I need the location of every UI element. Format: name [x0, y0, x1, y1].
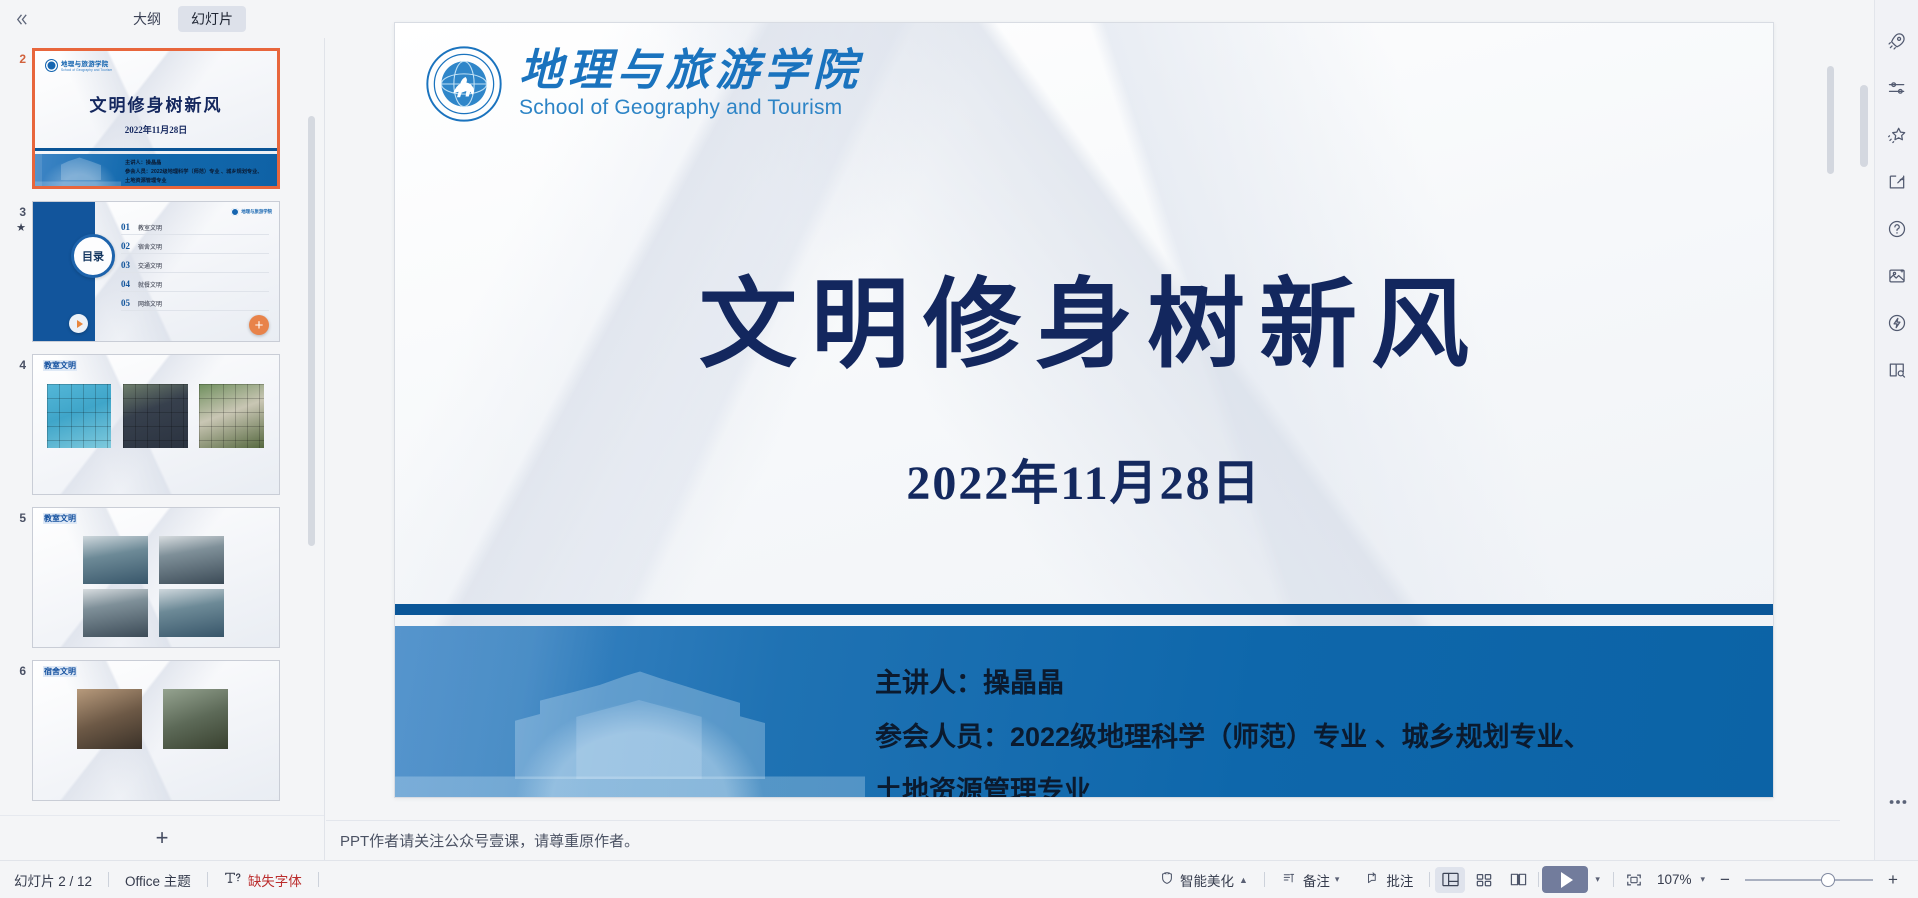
- slide-accent-bar: [395, 604, 1773, 615]
- slide-footer-panel[interactable]: 主讲人：操晶晶 参会人员：2022级地理科学（师范）专业 、城乡规划专业、 土地…: [395, 626, 1773, 797]
- divider: [1429, 872, 1430, 887]
- thumbnail-frame-2[interactable]: 地理与旅游学院 School of Geography and Tourism …: [32, 48, 280, 189]
- mini-slide-3: 地理与旅游学院 目录 01 教室文明 02 宿舍文: [33, 202, 279, 341]
- mini-toc-item: 05 网络文明: [121, 298, 269, 311]
- mini-toc-list: 01 教室文明 02 宿舍文明 03 交通文明: [121, 222, 269, 317]
- mini-slide-heading: 教室文明: [43, 360, 77, 371]
- school-logo-block[interactable]: 地理与旅游学院 School of Geography and Tourism: [425, 45, 862, 123]
- thumbnail-number: 5: [19, 511, 26, 525]
- mini-footer-text: 主讲人：操晶晶 参会人员：2022级地理科学（师范）专业 、城乡规划专业、 土地…: [125, 159, 273, 186]
- mini-toc-index: 02: [121, 241, 130, 251]
- status-right-group: 智能美化 ▲ 备注 ▾: [1159, 866, 1918, 894]
- thumbnail-item-4[interactable]: 4 教室文明: [0, 348, 324, 501]
- mini-footer-line-3: 土地资源管理专业: [125, 177, 273, 186]
- normal-view-icon[interactable]: [1435, 867, 1465, 893]
- divider: [1538, 872, 1539, 887]
- collapse-panel-icon[interactable]: [4, 2, 38, 36]
- tab-slides[interactable]: 幻灯片: [178, 6, 246, 33]
- mini-toc-item: 01 教室文明: [121, 222, 269, 235]
- missing-font-icon: [224, 871, 243, 888]
- mini-building-image: [35, 154, 121, 186]
- thumbnail-number-col-6: 6: [0, 660, 32, 678]
- thumbnail-number: 4: [19, 358, 26, 372]
- reading-view-icon[interactable]: [1503, 867, 1533, 893]
- mini-accent-bar: [35, 148, 277, 151]
- mini-photo: [47, 384, 111, 448]
- thumbnail-item-5[interactable]: 5 教室文明: [0, 501, 324, 654]
- mini-date: 2022年11月28日: [35, 123, 277, 136]
- comment-icon: [1365, 871, 1381, 889]
- thumbnail-number-col-5: 5: [0, 507, 32, 525]
- school-crest-icon: [231, 208, 239, 216]
- play-icon: [1561, 872, 1573, 888]
- school-crest-icon: [425, 45, 503, 123]
- mini-slide-heading: 教室文明: [43, 513, 77, 524]
- mini-slide-5: 教室文明: [33, 508, 279, 647]
- mini-logo-en: School of Geography and Tourism: [61, 68, 112, 72]
- footer-line-attendees: 参会人员：2022级地理科学（师范）专业 、城乡规划专业、: [875, 710, 1733, 764]
- slideshow-options-chevron-icon[interactable]: ▾: [1595, 874, 1600, 885]
- fit-to-window-icon[interactable]: [1619, 867, 1649, 893]
- smart-beautify-label: 智能美化: [1180, 870, 1234, 890]
- divider: [1613, 872, 1614, 887]
- divider: [1264, 872, 1265, 887]
- mini-logo-cn: 地理与旅游学院: [241, 209, 272, 215]
- mini-footer-line-2: 参会人员：2022级地理科学（师范）专业 、城乡规划专业、: [125, 168, 273, 177]
- missing-font-status[interactable]: 缺失字体: [211, 866, 315, 894]
- more-dots-icon[interactable]: [1887, 794, 1909, 812]
- theme-name[interactable]: Office 主题: [112, 866, 204, 894]
- start-slideshow-button[interactable]: [1542, 866, 1588, 893]
- thumbnail-number-col-4: 4: [0, 354, 32, 372]
- mini-photo: [83, 589, 148, 637]
- notes-label: 备注: [1303, 870, 1330, 890]
- mini-footer-panel: 主讲人：操晶晶 参会人员：2022级地理科学（师范）专业 、城乡规划专业、 土地…: [35, 154, 277, 186]
- smart-beautify-button[interactable]: 智能美化 ▲: [1159, 866, 1261, 894]
- mini-toc-label: 交通文明: [138, 261, 162, 270]
- right-panel-scrollbar[interactable]: [1860, 85, 1868, 167]
- mini-photo: [159, 589, 224, 637]
- add-slide-bar: +: [0, 815, 324, 860]
- zoom-controls: 107% ▾ − +: [1657, 869, 1904, 891]
- notes-text[interactable]: PPT作者请关注公众号壹课，请尊重原作者。: [326, 830, 639, 851]
- mini-toc-index: 05: [121, 298, 130, 308]
- thumbnail-number-col-3: 3 ★: [0, 201, 32, 235]
- thumbnail-item-3[interactable]: 3 ★ 地理与旅游学院 目录: [0, 195, 324, 348]
- mini-logo-cn: 地理与旅游学院: [61, 58, 112, 68]
- mini-toc-index: 03: [121, 260, 130, 270]
- insert-slide-here-button[interactable]: +: [249, 315, 269, 335]
- thumbnail-frame-3[interactable]: 地理与旅游学院 目录 01 教室文明 02 宿舍文: [32, 201, 280, 342]
- help-circle-icon[interactable]: [1882, 214, 1912, 244]
- chevron-down-icon: ▾: [1335, 874, 1340, 885]
- mini-photo: [159, 536, 224, 584]
- thumbnail-frame-5[interactable]: 教室文明: [32, 507, 280, 648]
- school-crest-icon: [45, 59, 58, 72]
- right-tool-rail: [1874, 0, 1918, 860]
- divider: [318, 872, 319, 887]
- school-name-en: School of Geography and Tourism: [519, 96, 862, 120]
- slide-title[interactable]: 文明修身树新风: [395, 273, 1773, 381]
- mini-slide-2: 地理与旅游学院 School of Geography and Tourism …: [35, 51, 277, 186]
- mini-toc-item: 04 就餐文明: [121, 279, 269, 292]
- export-slide-icon[interactable]: [1882, 167, 1912, 197]
- mini-toc-label: 网络文明: [138, 299, 162, 308]
- mini-slide-6: 宿舍文明: [33, 661, 279, 800]
- school-logo-text: 地理与旅游学院 School of Geography and Tourism: [519, 48, 862, 120]
- mini-photo: [83, 536, 148, 584]
- sparkle-star-icon[interactable]: [1882, 120, 1912, 150]
- zoom-level-label[interactable]: 107%: [1657, 872, 1692, 887]
- mini-footer-line-1: 主讲人：操晶晶: [125, 159, 273, 168]
- thumbnail-item-6[interactable]: 6 宿舍文明: [0, 654, 324, 807]
- comments-button[interactable]: 批注: [1352, 866, 1426, 894]
- status-left-group: 幻灯片 2 / 12 Office 主题 缺失字体: [0, 866, 322, 894]
- mini-toc-label: 就餐文明: [138, 280, 162, 289]
- tab-outline[interactable]: 大纲: [120, 6, 174, 33]
- slide-footer-text[interactable]: 主讲人：操晶晶 参会人员：2022级地理科学（师范）专业 、城乡规划专业、 土地…: [875, 656, 1733, 797]
- comments-label: 批注: [1386, 870, 1413, 890]
- divider: [207, 872, 208, 887]
- thumbnail-frame-4[interactable]: 教室文明: [32, 354, 280, 495]
- zoom-slider-track: [1745, 879, 1873, 881]
- thumbnail-number: 2: [19, 52, 26, 66]
- zoom-slider[interactable]: [1745, 871, 1873, 889]
- mini-polygon-bg: [33, 661, 279, 800]
- mini-logo: 地理与旅游学院: [231, 208, 272, 216]
- sliders-icon[interactable]: [1882, 73, 1912, 103]
- beautify-shield-icon: [1159, 870, 1175, 889]
- divider: [108, 872, 109, 887]
- missing-font-label: 缺失字体: [248, 870, 302, 890]
- footer-line-attendees-cont: 土地资源管理专业: [875, 764, 1733, 797]
- footer-line-speaker: 主讲人：操晶晶: [875, 656, 1733, 710]
- zoom-out-button[interactable]: −: [1714, 869, 1736, 891]
- slide-date[interactable]: 2022年11月28日: [395, 443, 1773, 513]
- mini-photo: [163, 689, 228, 749]
- mini-toc-badge: 目录: [71, 234, 115, 278]
- slide-edit-area: 地理与旅游学院 School of Geography and Tourism …: [326, 0, 1840, 860]
- thumbnail-number: 6: [19, 664, 26, 678]
- powerpoint-editor-window: 大纲 幻灯片 2 地理与旅游学院 School: [0, 0, 1918, 898]
- panel-tabs: 大纲 幻灯片: [120, 6, 246, 33]
- mini-photo: [199, 384, 264, 448]
- mini-toc-label: 教室文明: [138, 223, 162, 232]
- canvas-vertical-scrollbar[interactable]: [1827, 66, 1834, 174]
- image-effects-icon[interactable]: [1882, 261, 1912, 291]
- thumbnail-number: 3: [19, 205, 26, 219]
- mini-slide-4: 教室文明: [33, 355, 279, 494]
- mini-toc-index: 01: [121, 222, 130, 232]
- book-search-icon[interactable]: [1882, 355, 1912, 385]
- mini-toc-label: 宿舍文明: [138, 242, 162, 251]
- school-name-cn: 地理与旅游学院: [519, 48, 862, 94]
- zoom-slider-handle[interactable]: [1821, 873, 1835, 887]
- mini-photo: [123, 384, 188, 448]
- slide-canvas[interactable]: 地理与旅游学院 School of Geography and Tourism …: [394, 22, 1774, 798]
- slide-counter[interactable]: 幻灯片 2 / 12: [14, 866, 105, 894]
- notes-pane[interactable]: PPT作者请关注公众号壹课，请尊重原作者。: [326, 820, 1840, 860]
- thumbnail-number-col-2: 2: [0, 48, 32, 66]
- animation-star-icon: ★: [16, 221, 26, 235]
- flash-bulb-icon[interactable]: [1882, 308, 1912, 338]
- thumbnail-item-2[interactable]: 2 地理与旅游学院 School of Geography and Touris…: [0, 42, 324, 195]
- thumbnail-panel-scrollbar[interactable]: [308, 116, 315, 546]
- slide-sorter-icon[interactable]: [1469, 867, 1499, 893]
- mini-logo: 地理与旅游学院 School of Geography and Tourism: [45, 58, 112, 72]
- zoom-chevron-down-icon[interactable]: ▾: [1700, 874, 1705, 885]
- mini-photo: [77, 689, 142, 749]
- mini-slide-heading: 宿舍文明: [43, 666, 77, 677]
- rocket-icon[interactable]: [1882, 26, 1912, 56]
- status-bar: 幻灯片 2 / 12 Office 主题 缺失字体: [0, 860, 1918, 898]
- thumbnail-frame-6[interactable]: 宿舍文明: [32, 660, 280, 801]
- mini-toc-item: 03 交通文明: [121, 260, 269, 273]
- mini-toc-badge-label: 目录: [82, 248, 104, 264]
- thumbnail-scroll-region: 2 地理与旅游学院 School of Geography and Touris…: [0, 38, 324, 815]
- mini-polygon-bg: [33, 508, 279, 647]
- mini-toc-index: 04: [121, 279, 130, 289]
- add-slide-button[interactable]: +: [147, 823, 177, 853]
- zoom-in-button[interactable]: +: [1882, 869, 1904, 891]
- chevron-up-icon: ▲: [1239, 875, 1248, 885]
- mini-title: 文明修身树新风: [35, 91, 277, 116]
- thumbnail-play-icon[interactable]: [69, 314, 88, 333]
- panel-header-bar: 大纲 幻灯片: [0, 0, 325, 38]
- notes-button[interactable]: 备注 ▾: [1268, 866, 1353, 894]
- campus-building-image: [395, 626, 865, 797]
- notes-icon: [1281, 871, 1298, 889]
- slide-thumbnail-panel: 2 地理与旅游学院 School of Geography and Touris…: [0, 38, 325, 860]
- mini-toc-item: 02 宿舍文明: [121, 241, 269, 254]
